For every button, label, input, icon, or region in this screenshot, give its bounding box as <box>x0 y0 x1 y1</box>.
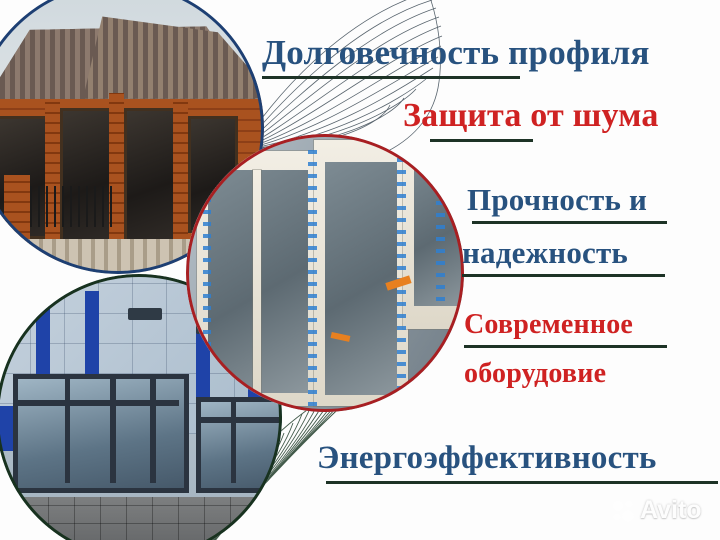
avito-dots-icon <box>612 499 636 523</box>
headline-nadezhnost: надежность <box>462 235 628 271</box>
headline-sovremennoe: Современное <box>464 309 633 341</box>
headline-underline-sovremennoe <box>464 345 667 348</box>
headline-underline-zashita <box>430 139 533 142</box>
headline-underline-energo <box>326 481 718 484</box>
headline-dolgovechnost: Долговечность профиля <box>262 33 650 73</box>
headline-underline-dolgovechnost <box>262 76 520 79</box>
headline-prochnost: Прочность и <box>467 182 647 218</box>
headline-energoeffektivnost: Энергоэффективность <box>317 440 657 477</box>
avito-wordmark: Avito <box>640 498 702 523</box>
headline-oborudovie: оборудовие <box>464 358 606 390</box>
avito-watermark: Avito <box>612 498 702 523</box>
headline-underline-prochnost <box>472 221 667 224</box>
photo-pvc-windows <box>186 134 464 412</box>
headline-underline-nadezhnost <box>462 274 665 277</box>
poster-canvas: Долговечность профиля Защита от шума Про… <box>0 0 720 540</box>
headline-zashita-ot-shuma: Защита от шума <box>403 97 659 135</box>
